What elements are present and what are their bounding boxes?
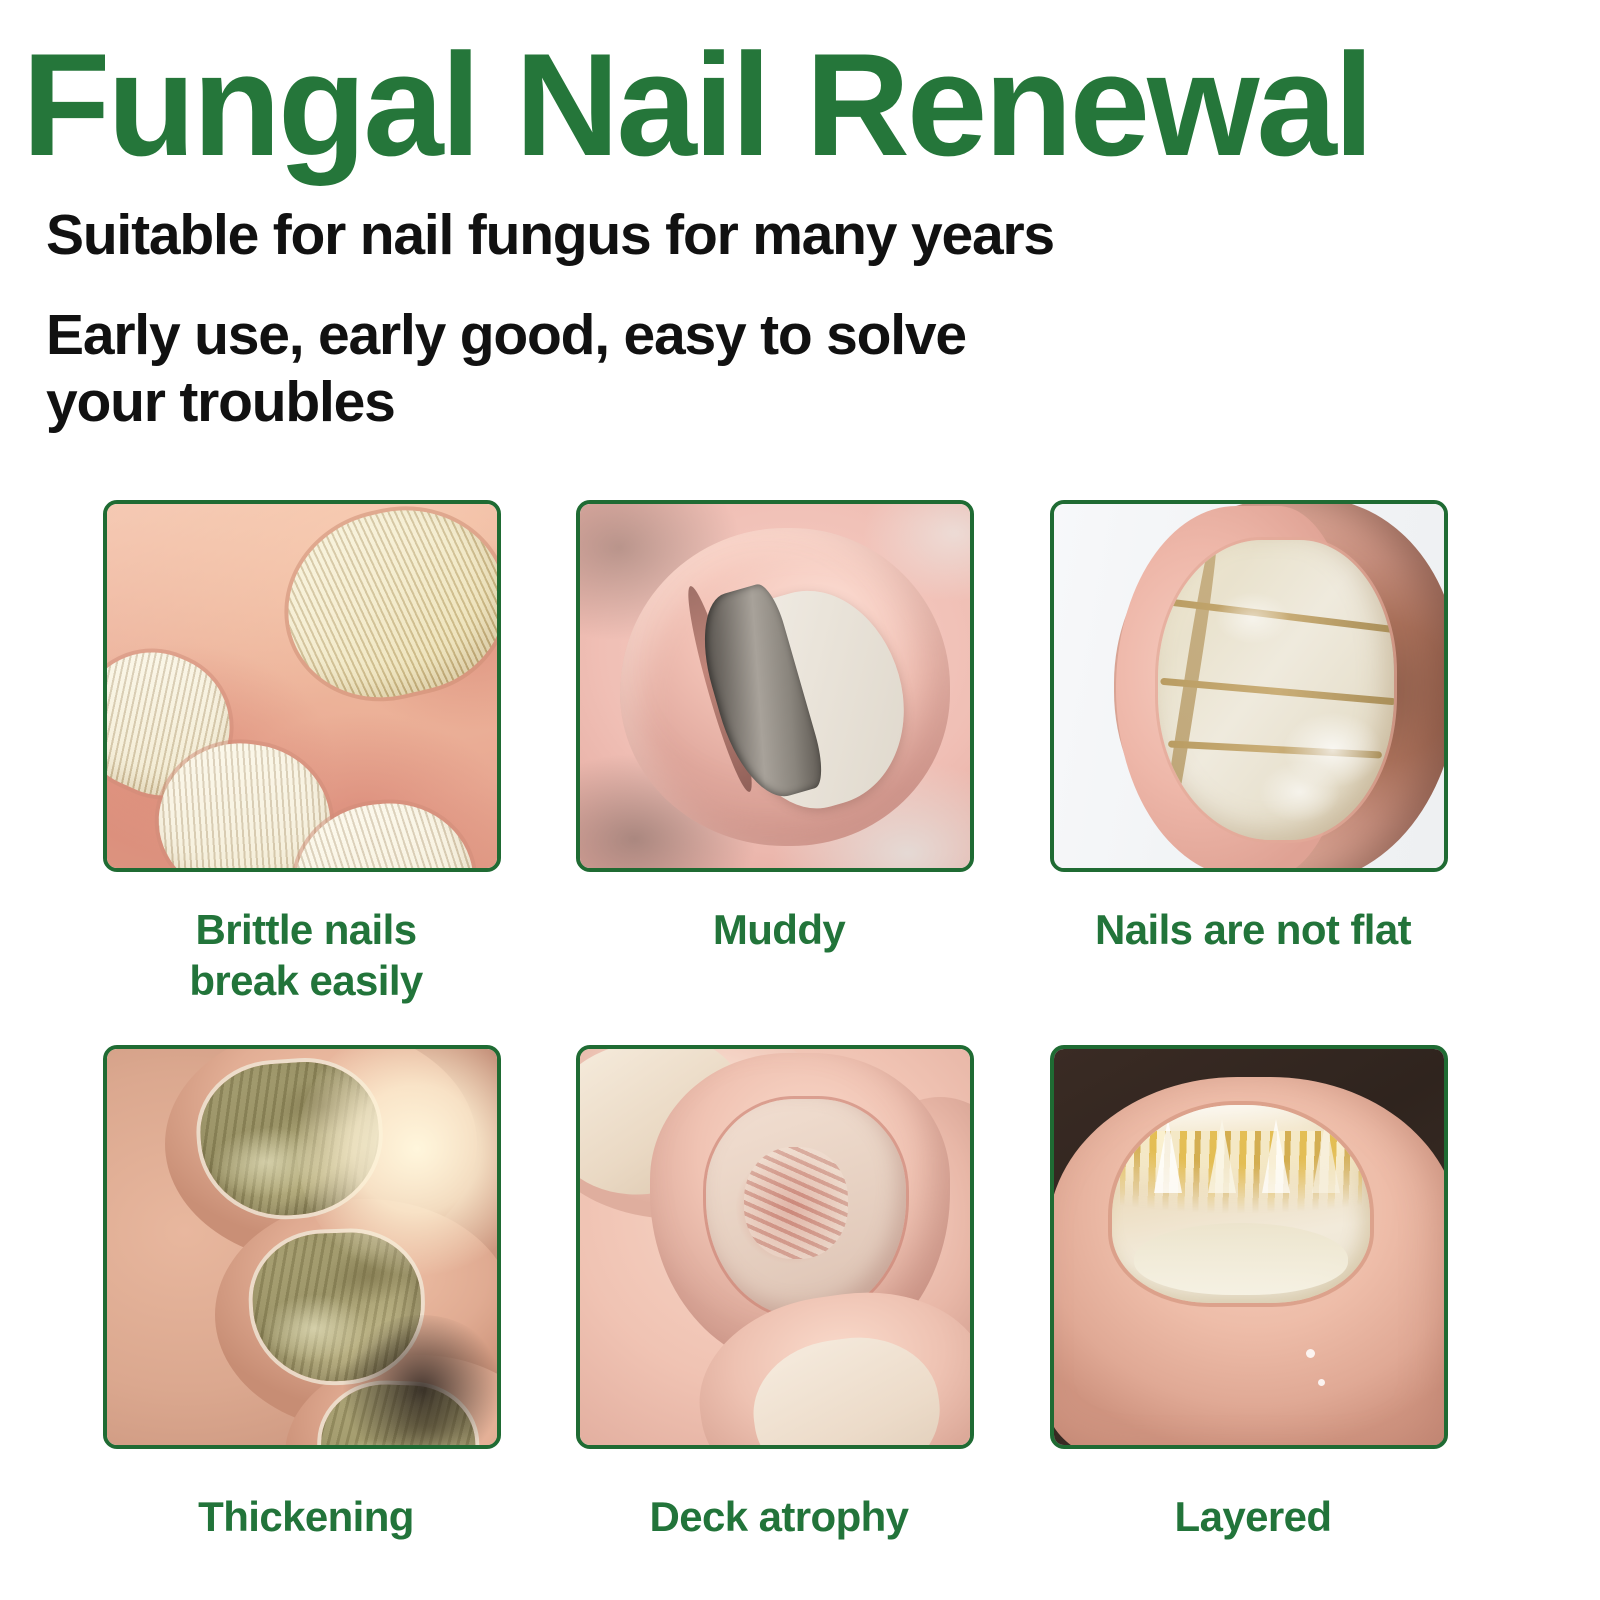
symptom-row-1: Brittle nails break easily Muddy [0, 500, 1600, 1045]
nail-flaking [1158, 540, 1394, 840]
deck-atrophy-photo [580, 1049, 970, 1445]
symptom-caption: Thickening [63, 1491, 549, 1542]
symptom-photo-frame [103, 500, 501, 872]
nail-erosion [736, 1139, 856, 1267]
caption-line-1: Layered [1175, 1493, 1332, 1540]
symptom-card-layered: Layered [1050, 1045, 1456, 1449]
skin-speck [1306, 1349, 1315, 1358]
symptom-photo-frame [576, 1045, 974, 1449]
subtitle-text-3: your troubles [46, 369, 1526, 436]
symptom-photo-frame [1050, 1045, 1448, 1449]
symptom-card-muddy: Muddy [576, 500, 982, 872]
caption-line-2: break easily [189, 957, 422, 1004]
symptom-caption: Muddy [536, 904, 1022, 955]
layered-photo [1054, 1049, 1444, 1445]
caption-line-1: Nails are not flat [1095, 906, 1411, 953]
symptom-card-deck-atrophy: Deck atrophy [576, 1045, 982, 1449]
symptom-photo-frame [576, 500, 974, 872]
nail-plate-remnant [1134, 1223, 1348, 1295]
muddy-photo [580, 504, 970, 868]
nail-shape [1158, 540, 1394, 840]
nail-layer-spike [1262, 1119, 1290, 1193]
subtitle-text-1: Suitable for nail fungus for many years [46, 206, 1526, 264]
nail-layer-spike [1312, 1119, 1340, 1193]
thickening-photo [107, 1049, 497, 1445]
symptom-grid: Brittle nails break easily Muddy [0, 500, 1600, 1600]
product-infographic: Fungal Nail Renewal Suitable for nail fu… [0, 0, 1600, 1600]
subtitle-block-2: Early use, early good, easy to solve you… [46, 302, 1526, 435]
atrophic-nail [706, 1099, 906, 1317]
caption-line-1: Thickening [198, 1493, 414, 1540]
symptom-caption: Brittle nails break easily [63, 904, 549, 1006]
symptom-caption: Deck atrophy [536, 1491, 1022, 1542]
symptom-card-thickening: Thickening [103, 1045, 509, 1449]
symptom-caption: Nails are not flat [1010, 904, 1496, 955]
skin-speck [1318, 1379, 1325, 1386]
caption-line-1: Brittle nails [196, 906, 417, 953]
nails-not-flat-photo [1054, 504, 1444, 868]
symptom-photo-frame [103, 1045, 501, 1449]
symptom-card-nails-not-flat: Nails are not flat [1050, 500, 1456, 872]
symptom-photo-frame [1050, 500, 1448, 872]
symptom-card-brittle-nails: Brittle nails break easily [103, 500, 509, 872]
symptom-caption: Layered [1010, 1491, 1496, 1542]
brittle-nails-photo [107, 504, 497, 868]
nail-layer-spike [1154, 1119, 1182, 1193]
symptom-row-2: Thickening [0, 1045, 1600, 1600]
subtitle-line-1: Suitable for nail fungus for many years [46, 206, 1526, 264]
nail-layer-spike [1208, 1119, 1236, 1193]
page-title: Fungal Nail Renewal [22, 32, 1566, 178]
layered-nail [1112, 1105, 1370, 1303]
subtitle-text-2: Early use, early good, easy to solve [46, 302, 1526, 369]
caption-line-1: Muddy [713, 906, 845, 953]
caption-line-1: Deck atrophy [650, 1493, 909, 1540]
